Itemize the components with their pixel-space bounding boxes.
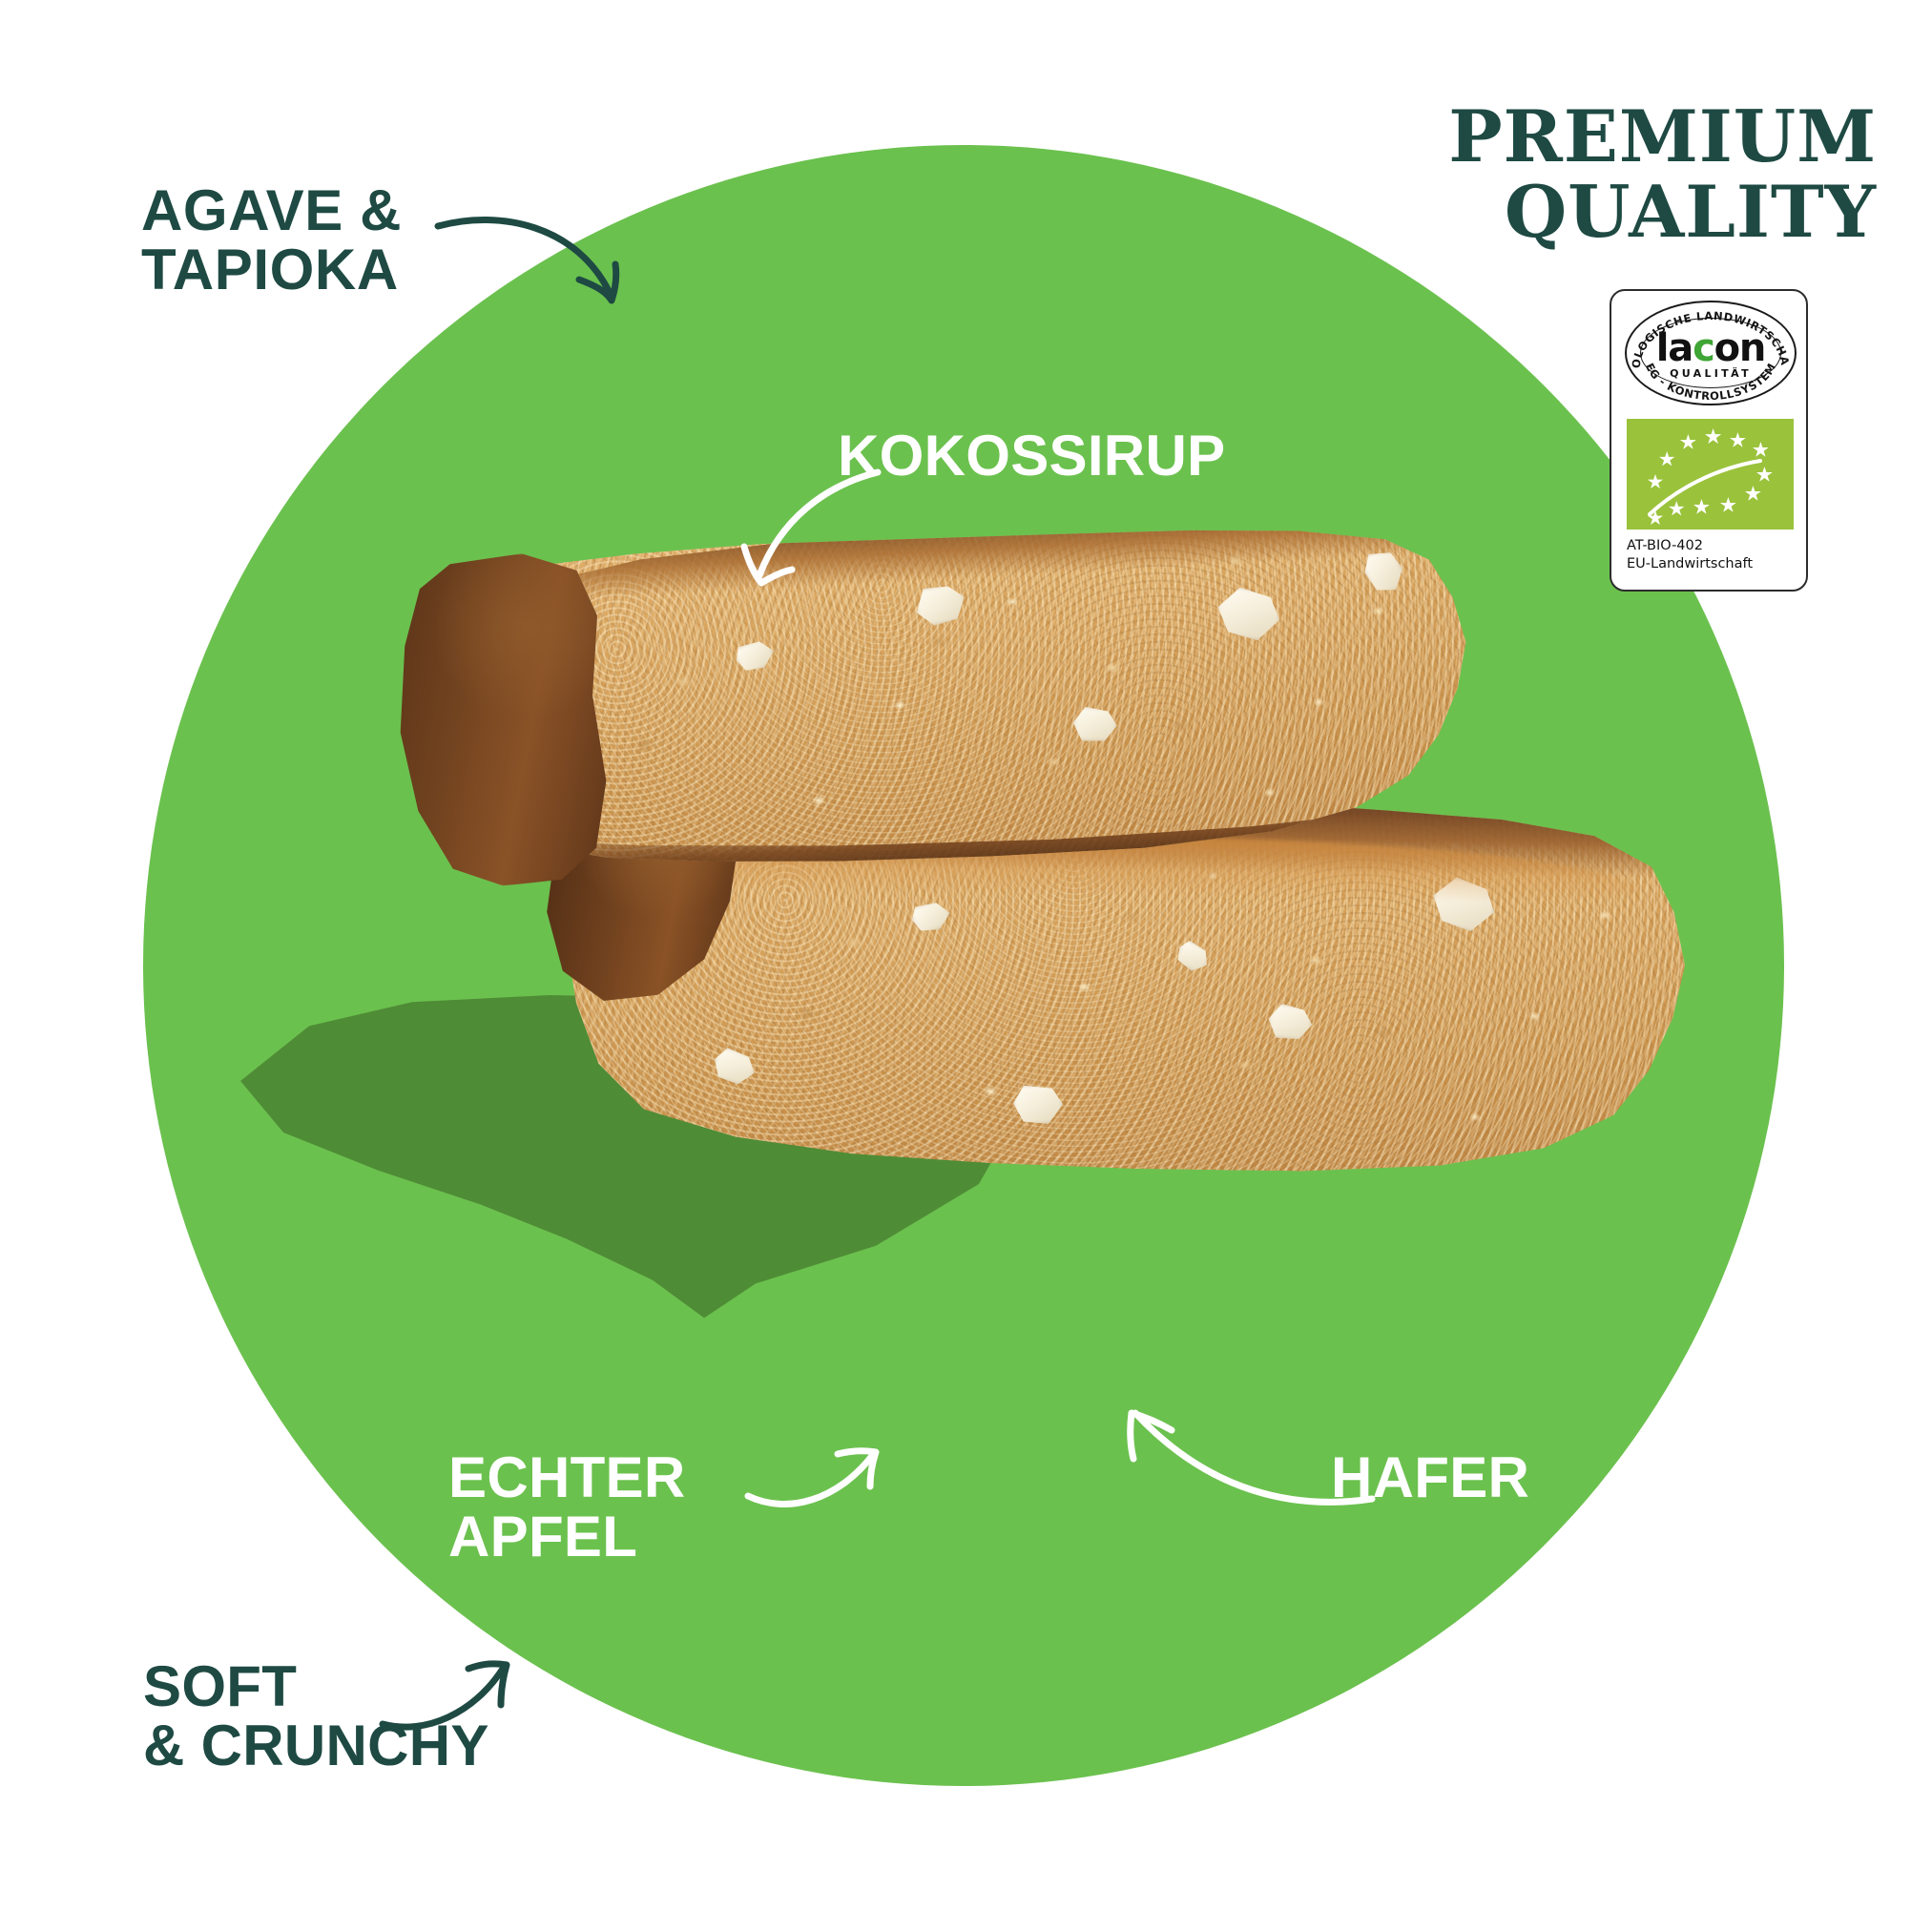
- curved-arrow-up-left-icon: [1105, 1388, 1381, 1541]
- marketing-image-canvas: AGAVE & TAPIOKA KOKOSSIRUP ECHTER APFEL …: [0, 0, 1932, 1932]
- lacon-subtitle: QUALITÄT: [1619, 367, 1802, 380]
- organic-certification-badge: BIOLOGISCHE LANDWIRTSCHAFT EG - KONTROLL…: [1610, 289, 1808, 592]
- lacon-wordmark-post: on: [1714, 326, 1766, 370]
- apple-chunk: [710, 1045, 759, 1088]
- lacon-wordmark-pre: la: [1656, 326, 1693, 370]
- apple-chunk: [908, 897, 953, 935]
- apple-chunk: [1012, 1083, 1065, 1127]
- eu-stars-leaf: [1627, 419, 1794, 530]
- lacon-logo: BIOLOGISCHE LANDWIRTSCHAFT EG - KONTROLL…: [1619, 297, 1802, 409]
- curved-arrow-down-left-icon: [733, 463, 895, 596]
- lacon-wordmark: lacon: [1619, 329, 1802, 367]
- apple-chunk: [1267, 1003, 1315, 1042]
- product-photo: [172, 534, 1698, 1488]
- lacon-wordmark-accent: c: [1693, 326, 1714, 370]
- eu-organic-code-text: AT-BIO-402 EU-Landwirtschaft: [1627, 537, 1753, 572]
- apple-chunk: [912, 582, 968, 629]
- apple-chunk: [1071, 707, 1117, 743]
- callout-label-kokossirup: KOKOSSIRUP: [838, 426, 1225, 486]
- page-title: PREMIUM QUALITY: [1448, 99, 1877, 250]
- callout-label-echter-apfel: ECHTER APFEL: [448, 1448, 685, 1568]
- curved-arrow-up-right-dark-icon: [377, 1655, 520, 1760]
- callout-label-agave-tapioka: AGAVE & TAPIOKA: [141, 181, 402, 301]
- upper-bar-half: [398, 506, 1487, 887]
- eu-organic-leaf-logo: [1627, 419, 1794, 530]
- apple-chunk: [1173, 938, 1214, 976]
- curved-arrow-down-right-icon: [434, 205, 663, 334]
- apple-chunk: [732, 635, 778, 675]
- apple-chunk: [1214, 585, 1283, 644]
- curved-arrow-up-right-icon: [742, 1441, 885, 1531]
